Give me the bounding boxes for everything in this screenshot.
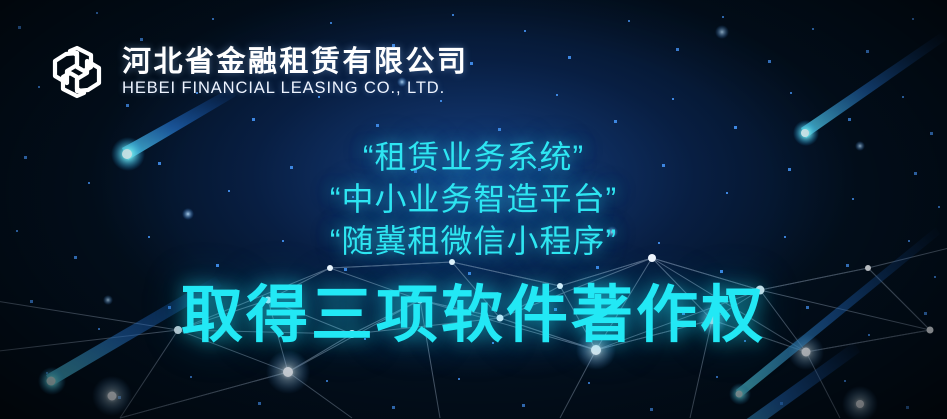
product-line-2: “中小业务智造平台” (0, 178, 947, 220)
promo-banner: 河北省金融租赁有限公司 HEBEI FINANCIAL LEASING CO.,… (0, 0, 947, 419)
company-name-en: HEBEI FINANCIAL LEASING CO., LTD. (122, 79, 469, 97)
product-list: “租赁业务系统” “中小业务智造平台” “随冀租微信小程序” (0, 136, 947, 262)
product-line-1: “租赁业务系统” (0, 136, 947, 178)
brand-header: 河北省金融租赁有限公司 HEBEI FINANCIAL LEASING CO.,… (46, 41, 469, 103)
brand-text-block: 河北省金融租赁有限公司 HEBEI FINANCIAL LEASING CO.,… (122, 47, 469, 98)
product-line-3: “随冀租微信小程序” (0, 220, 947, 262)
company-name-cn: 河北省金融租赁有限公司 (122, 47, 469, 78)
interlocking-hexagon-monogram-icon (46, 41, 108, 103)
headline: 取得三项软件著作权 (0, 283, 947, 349)
